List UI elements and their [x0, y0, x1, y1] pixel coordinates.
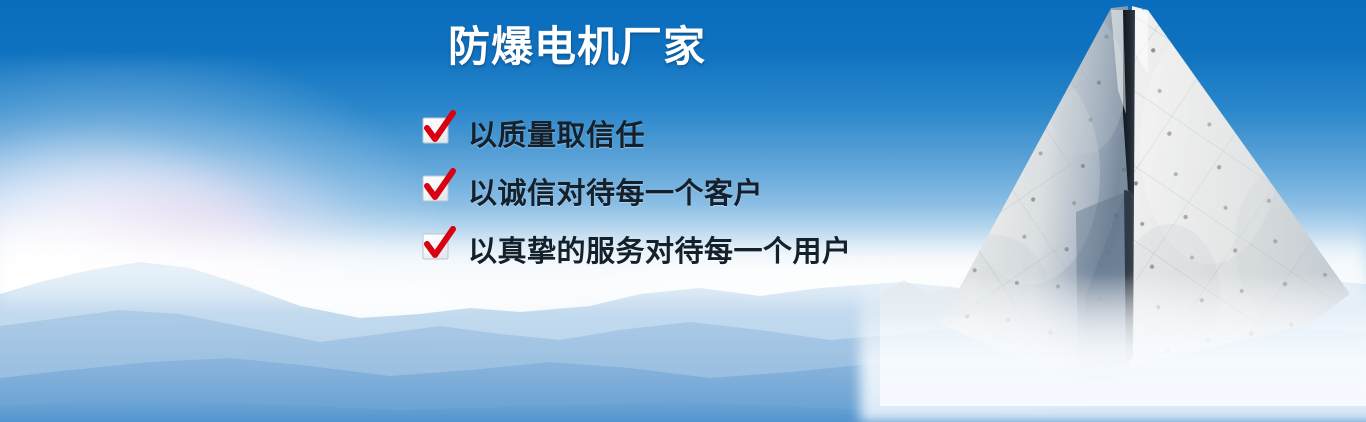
list-item: 以质量取信任 [420, 104, 852, 162]
banner-content: 防爆电机厂家 [0, 0, 900, 422]
list-item: 以真挚的服务对待每一个用户 [420, 220, 852, 278]
feature-list: 以质量取信任 [420, 104, 852, 278]
red-check-icon [420, 174, 454, 208]
list-item-label: 以质量取信任 [468, 112, 645, 154]
red-check-icon [420, 116, 454, 150]
list-item: 以诚信对待每一个客户 [420, 162, 852, 220]
banner-headline: 防爆电机厂家 [448, 26, 706, 68]
red-check-icon [420, 232, 454, 266]
promo-banner: 防爆电机厂家 [0, 0, 1366, 422]
list-item-label: 以真挚的服务对待每一个用户 [468, 228, 852, 270]
list-item-label: 以诚信对待每一个客户 [468, 170, 763, 212]
